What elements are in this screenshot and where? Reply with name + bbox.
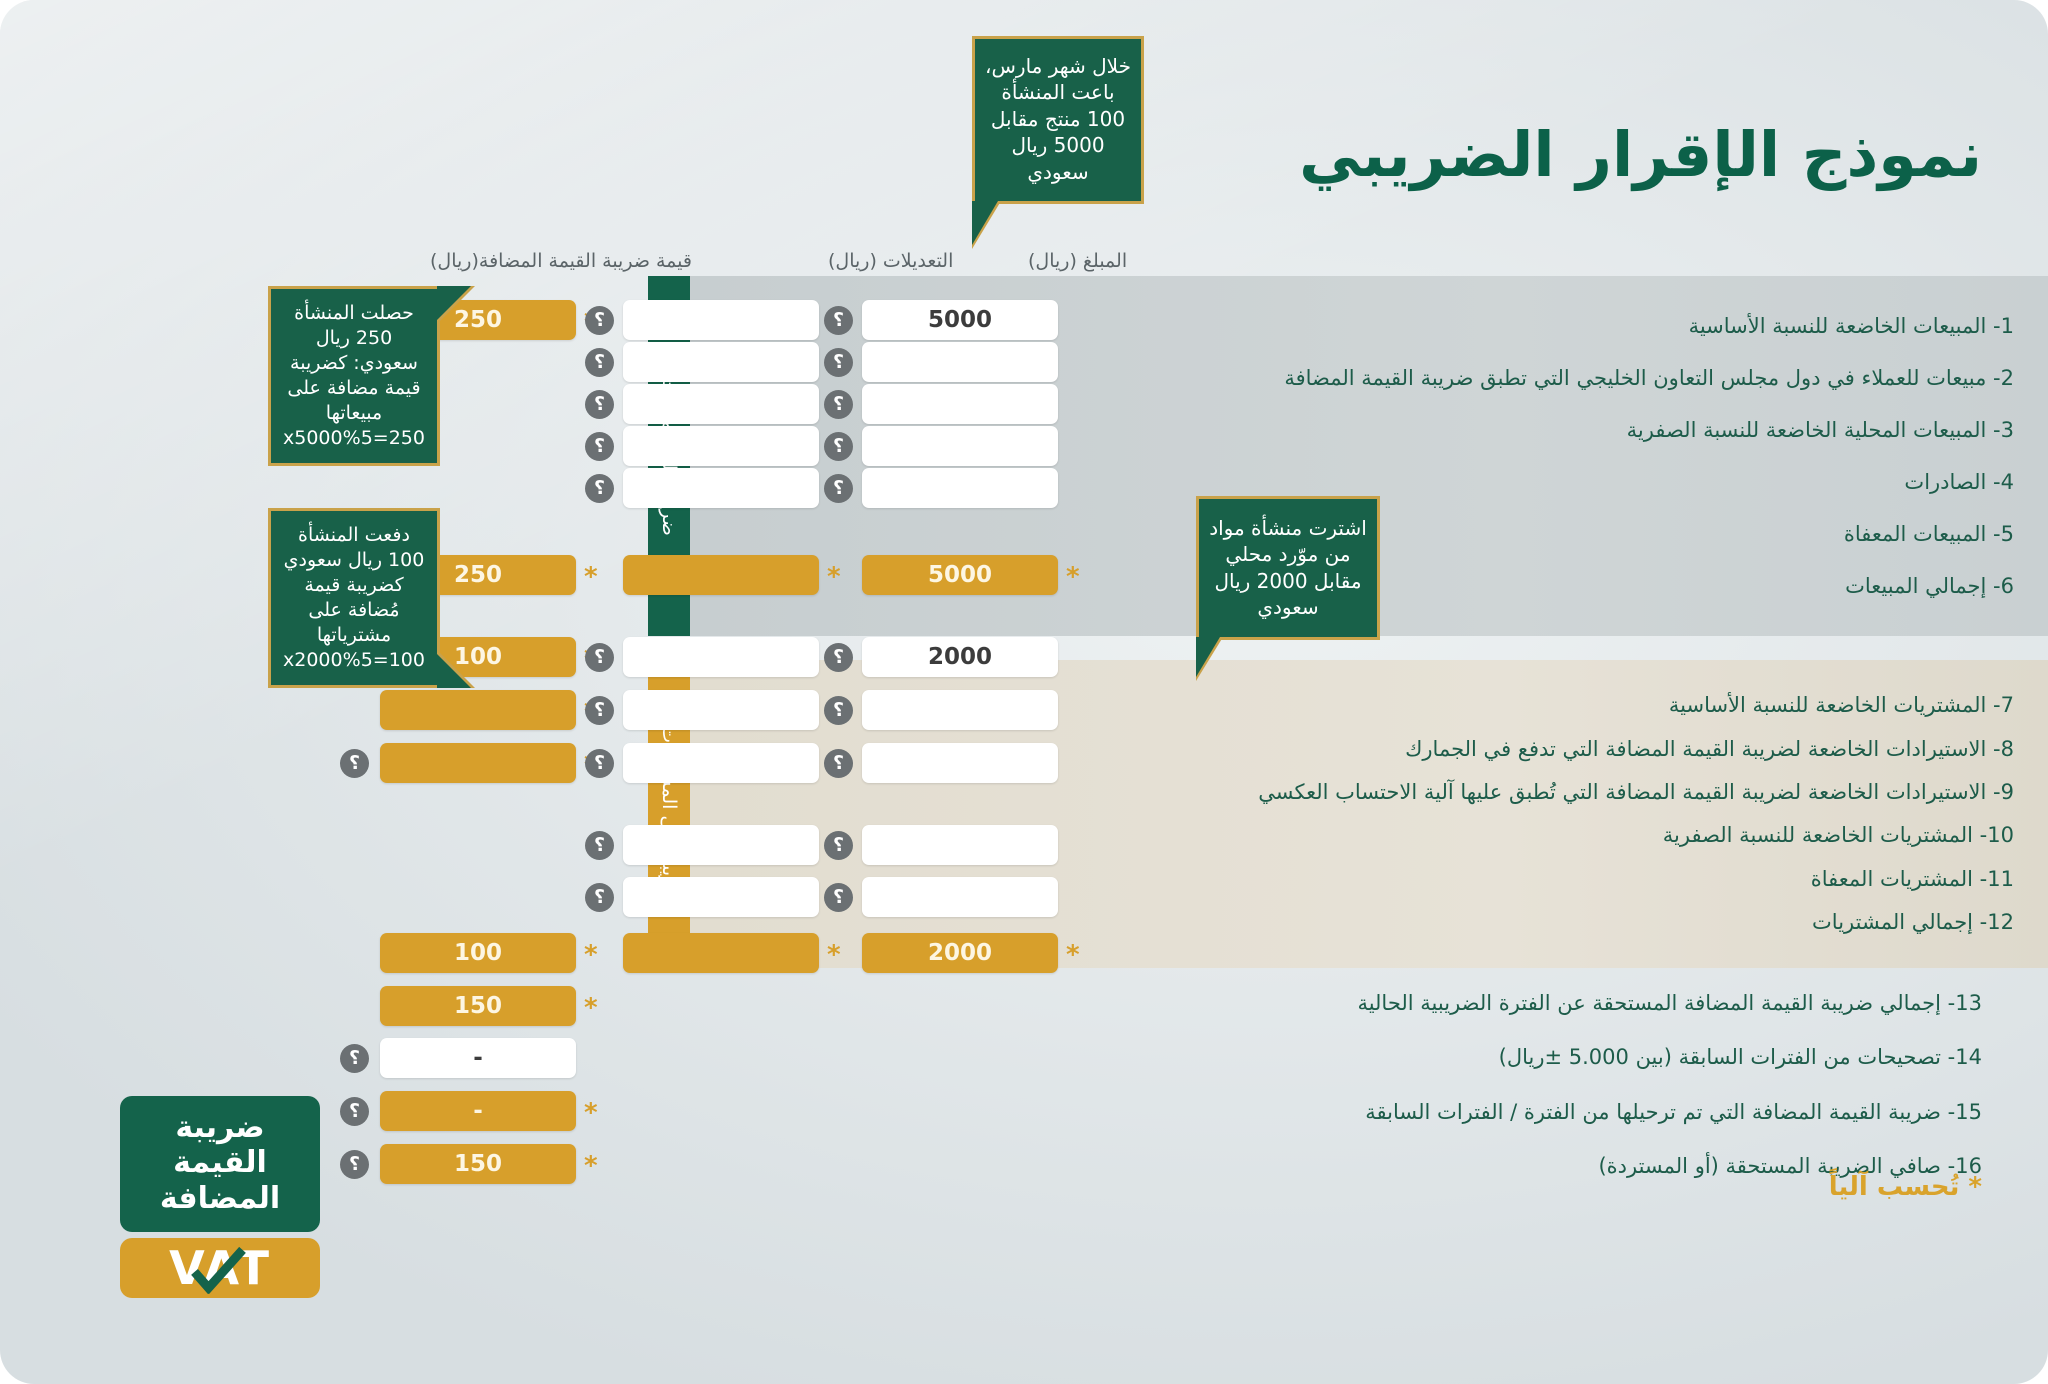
form-row: 150؟*: [380, 1144, 1190, 1184]
row8-vat-field[interactable]: [380, 690, 576, 730]
form-row: 100**2000*: [380, 933, 1190, 973]
row6-vat-auto-calc-marker: *: [584, 564, 598, 590]
row2-adjustment-field[interactable]: [623, 342, 819, 382]
row4-amount-help-icon[interactable]: ؟: [824, 432, 853, 461]
form-row: ؟؟: [380, 825, 1190, 865]
row1-adjustment-help-icon[interactable]: ؟: [585, 306, 614, 335]
callout-input-vat: دفعت المنشأة 100 ريال سعودي كضريبة قيمة …: [268, 508, 440, 688]
row1-amount-field[interactable]: 5000: [862, 300, 1058, 340]
form-row: -؟: [380, 1038, 1190, 1078]
row6-amount-field[interactable]: 5000: [862, 555, 1058, 595]
row10-adjustment-field[interactable]: [623, 825, 819, 865]
callout-tail: [437, 654, 471, 688]
row5-amount-help-icon[interactable]: ؟: [824, 474, 853, 503]
infographic-canvas: نموذج الإقرار الضريبي خلال شهر مارس، باع…: [0, 0, 2048, 1384]
row5-adjustment-help-icon[interactable]: ؟: [585, 474, 614, 503]
row13-vat-auto-calc-marker: *: [584, 995, 598, 1021]
row2-amount-help-icon[interactable]: ؟: [824, 348, 853, 377]
row8-amount-field[interactable]: [862, 690, 1058, 730]
form-row: 150*: [380, 986, 1190, 1026]
row9-adjustment-field[interactable]: [623, 743, 819, 783]
row13-vat-field[interactable]: 150: [380, 986, 576, 1026]
row15-vat-field[interactable]: -: [380, 1091, 576, 1131]
form-row: 100*؟2000؟: [380, 637, 1190, 677]
row6-adjustment-auto-calc-marker: *: [827, 564, 841, 590]
row14-vat-field[interactable]: -: [380, 1038, 576, 1078]
form-row: ؟؟: [380, 342, 1190, 382]
row12-adjustment-field[interactable]: [623, 933, 819, 973]
row5-adjustment-field[interactable]: [623, 468, 819, 508]
form-row: 250*؟5000؟: [380, 300, 1190, 340]
row12-vat-auto-calc-marker: *: [584, 942, 598, 968]
form-row: 250**5000*: [380, 555, 1190, 595]
callout-output-vat-text: حصلت المنشأة 250 ريال سعودي: كضريبة قيمة…: [283, 302, 425, 449]
row15-vat-help-icon[interactable]: ؟: [340, 1097, 369, 1126]
callout-tail: [972, 201, 998, 245]
page-title: نموذج الإقرار الضريبي: [1299, 118, 1982, 191]
row8-adjustment-help-icon[interactable]: ؟: [585, 696, 614, 725]
callout-sales-text: خلال شهر مارس، باعت المنشأة 100 منتج مقا…: [985, 54, 1131, 184]
row12-amount-auto-calc-marker: *: [1066, 942, 1080, 968]
row6-amount-auto-calc-marker: *: [1066, 564, 1080, 590]
vat-logo-line-1: ضريبة: [130, 1110, 310, 1145]
row12-adjustment-auto-calc-marker: *: [827, 942, 841, 968]
vat-logo-acronym-box: VAT: [120, 1238, 320, 1298]
row15-vat-auto-calc-marker: *: [584, 1100, 598, 1126]
row16-vat-field[interactable]: 150: [380, 1144, 576, 1184]
row7-amount-help-icon[interactable]: ؟: [824, 643, 853, 672]
row10-amount-field[interactable]: [862, 825, 1058, 865]
row11-adjustment-field[interactable]: [623, 877, 819, 917]
row7-adjustment-help-icon[interactable]: ؟: [585, 643, 614, 672]
form-row: *؟؟: [380, 690, 1190, 730]
callout-sales-story: خلال شهر مارس، باعت المنشأة 100 منتج مقا…: [972, 36, 1144, 204]
row14-vat-help-icon[interactable]: ؟: [340, 1044, 369, 1073]
row4-adjustment-help-icon[interactable]: ؟: [585, 432, 614, 461]
row1-adjustment-field[interactable]: [623, 300, 819, 340]
row10-adjustment-help-icon[interactable]: ؟: [585, 831, 614, 860]
row9-amount-help-icon[interactable]: ؟: [824, 749, 853, 778]
row11-adjustment-help-icon[interactable]: ؟: [585, 883, 614, 912]
row10-amount-help-icon[interactable]: ؟: [824, 831, 853, 860]
callout-tail: [1196, 637, 1220, 677]
vat-logo-line-3: المضافة: [130, 1181, 310, 1216]
row12-amount-field[interactable]: 2000: [862, 933, 1058, 973]
row11-amount-field[interactable]: [862, 877, 1058, 917]
vat-logo-arabic: ضريبة القيمة المضافة: [120, 1096, 320, 1232]
vat-logo: ضريبة القيمة المضافة VAT: [120, 1096, 320, 1298]
row8-adjustment-field[interactable]: [623, 690, 819, 730]
row3-adjustment-field[interactable]: [623, 384, 819, 424]
form-row: ؟؟: [380, 877, 1190, 917]
row9-vat-field[interactable]: [380, 743, 576, 783]
footnote: * تُحسب آلياً: [1829, 1172, 1982, 1202]
callout-output-vat: حصلت المنشأة 250 ريال سعودي: كضريبة قيمة…: [268, 286, 440, 466]
form-row: ؟؟: [380, 426, 1190, 466]
vat-logo-line-2: القيمة: [130, 1145, 310, 1180]
callout-purchase-story: اشترت منشأة مواد من موّرد محلي مقابل 200…: [1196, 496, 1380, 640]
column-header-amount: المبلغ (ريال): [1028, 250, 1127, 272]
row3-amount-field[interactable]: [862, 384, 1058, 424]
row2-adjustment-help-icon[interactable]: ؟: [585, 348, 614, 377]
row7-amount-field[interactable]: 2000: [862, 637, 1058, 677]
form-row: -؟*: [380, 1091, 1190, 1131]
row4-amount-field[interactable]: [862, 426, 1058, 466]
row9-amount-field[interactable]: [862, 743, 1058, 783]
row16-vat-auto-calc-marker: *: [584, 1153, 598, 1179]
row9-adjustment-help-icon[interactable]: ؟: [585, 749, 614, 778]
row16-vat-help-icon[interactable]: ؟: [340, 1150, 369, 1179]
checkmark-icon: [187, 1246, 249, 1294]
form-row: ؟*؟؟: [380, 743, 1190, 783]
row2-amount-field[interactable]: [862, 342, 1058, 382]
callout-tail: [437, 286, 471, 320]
callout-purchase-text: اشترت منشأة مواد من موّرد محلي مقابل 200…: [1209, 516, 1367, 619]
callout-input-vat-text: دفعت المنشأة 100 ريال سعودي كضريبة قيمة …: [283, 524, 425, 671]
column-header-adjustments: التعديلات (ريال): [828, 250, 953, 272]
row4-adjustment-field[interactable]: [623, 426, 819, 466]
row1-amount-help-icon[interactable]: ؟: [824, 306, 853, 335]
row5-amount-field[interactable]: [862, 468, 1058, 508]
row7-adjustment-field[interactable]: [623, 637, 819, 677]
form-row: ؟؟: [380, 384, 1190, 424]
row3-amount-help-icon[interactable]: ؟: [824, 390, 853, 419]
row9-vat-help-icon[interactable]: ؟: [340, 749, 369, 778]
column-header-vat-value: قيمة ضريبة القيمة المضافة(ريال): [430, 250, 692, 272]
row6-adjustment-field[interactable]: [623, 555, 819, 595]
row11-amount-help-icon[interactable]: ؟: [824, 883, 853, 912]
row12-vat-field[interactable]: 100: [380, 933, 576, 973]
form-row: ؟؟: [380, 468, 1190, 508]
row8-amount-help-icon[interactable]: ؟: [824, 696, 853, 725]
row3-adjustment-help-icon[interactable]: ؟: [585, 390, 614, 419]
